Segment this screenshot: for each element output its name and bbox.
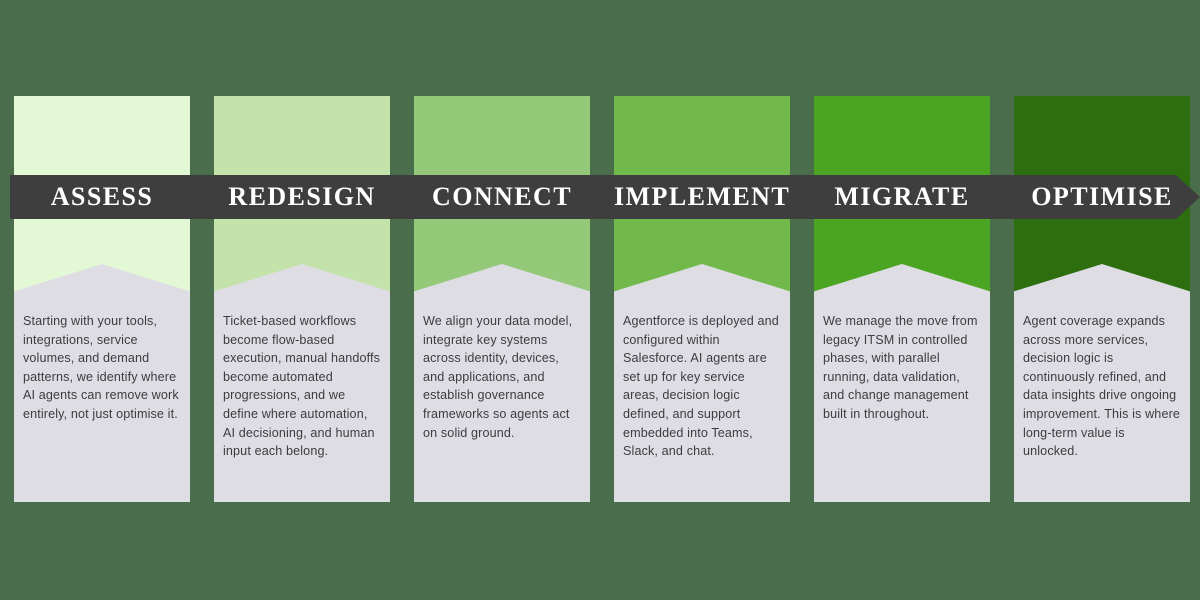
ribbon-label-connect[interactable]: CONNECT [414, 175, 590, 219]
stage-column-migrate[interactable]: We manage the move from legacy ITSM in c… [814, 96, 990, 502]
ribbon-label-redesign[interactable]: REDESIGN [214, 175, 390, 219]
stage-description-text: We manage the move from legacy ITSM in c… [823, 312, 981, 424]
stage-description-text: Starting with your tools, integrations, … [23, 312, 181, 424]
stage-column-assess[interactable]: Starting with your tools, integrations, … [14, 96, 190, 502]
stage-column-implement[interactable]: Agentforce is deployed and configured wi… [614, 96, 790, 502]
stage-board: Starting with your tools, integrations, … [0, 0, 1200, 600]
stage-description-card: Agent coverage expands across more servi… [1014, 264, 1190, 502]
stage-description-card: Agentforce is deployed and configured wi… [614, 264, 790, 502]
stage-column-connect[interactable]: We align your data model, integrate key … [414, 96, 590, 502]
ribbon-label-optimise[interactable]: OPTIMISE [1014, 175, 1190, 219]
stage-column-redesign[interactable]: Ticket-based workflows become flow-based… [214, 96, 390, 502]
stage-ribbon-banner: ASSESSREDESIGNCONNECTIMPLEMENTMIGRATEOPT… [10, 175, 1200, 219]
stage-column-optimise[interactable]: Agent coverage expands across more servi… [1014, 96, 1190, 502]
stage-description-card: Starting with your tools, integrations, … [14, 264, 190, 502]
ribbon-label-assess[interactable]: ASSESS [14, 175, 190, 219]
stage-description-text: Agentforce is deployed and configured wi… [623, 312, 781, 461]
ribbon-label-implement[interactable]: IMPLEMENT [614, 175, 790, 219]
stage-description-text: We align your data model, integrate key … [423, 312, 581, 442]
ribbon-label-migrate[interactable]: MIGRATE [814, 175, 990, 219]
stage-description-card: Ticket-based workflows become flow-based… [214, 264, 390, 502]
stage-description-text: Agent coverage expands across more servi… [1023, 312, 1181, 461]
stage-description-card: We manage the move from legacy ITSM in c… [814, 264, 990, 502]
stage-description-text: Ticket-based workflows become flow-based… [223, 312, 381, 461]
stage-columns-layer: Starting with your tools, integrations, … [0, 0, 1200, 600]
stage-description-card: We align your data model, integrate key … [414, 264, 590, 502]
